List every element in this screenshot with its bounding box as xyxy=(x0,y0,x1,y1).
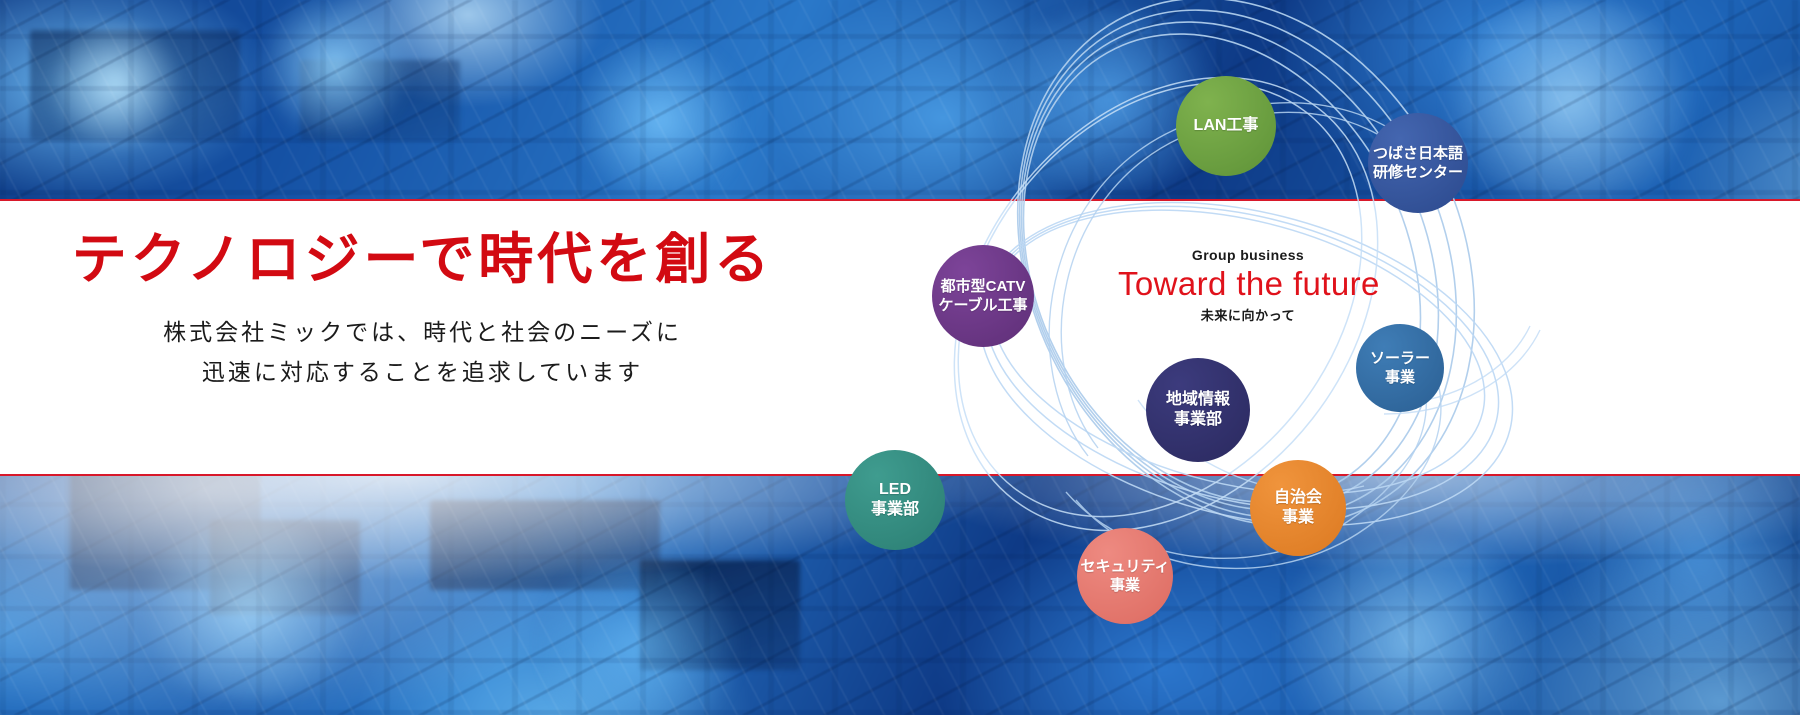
bubble-label-line-2: 事業 xyxy=(1282,508,1314,528)
bubble-lan-construction[interactable]: LAN工事 xyxy=(1176,76,1276,176)
bubble-label-line-1: セキュリティ xyxy=(1080,557,1169,576)
bubble-led-division[interactable]: LED事業部 xyxy=(845,450,945,550)
bubble-label-line-2: ケーブル工事 xyxy=(938,296,1027,315)
bubble-label-line-1: ソーラー xyxy=(1370,349,1430,368)
bubble-neighborhood-association-business[interactable]: 自治会事業 xyxy=(1250,460,1346,556)
bubble-label-line-2: 研修センター xyxy=(1373,163,1463,182)
page-title: テクノロジーで時代を創る xyxy=(0,228,845,293)
bubble-label-line-1: LAN工事 xyxy=(1194,116,1259,136)
bubble-solar-business[interactable]: ソーラー事業 xyxy=(1356,324,1444,412)
bubble-label-line-2: 事業部 xyxy=(871,500,919,520)
bubble-label-line-2: 事業 xyxy=(1110,576,1140,595)
band-feather-top xyxy=(0,120,1800,200)
divider-rule-top xyxy=(0,199,1800,201)
center-caption: Group business Toward the future 未来に向かって xyxy=(1118,248,1378,324)
bubble-label-line-1: 地域情報 xyxy=(1166,390,1230,410)
hero-subtitle-line-2: 迅速に対応することを追求しています xyxy=(0,353,845,393)
center-eyebrow: Group business xyxy=(1118,248,1378,263)
bubble-label-line-2: 事業 xyxy=(1385,368,1415,387)
bubble-label-line-1: つばさ日本語 xyxy=(1373,144,1463,163)
bubble-label-line-1: LED xyxy=(879,480,911,500)
bubble-label-line-2: 事業部 xyxy=(1174,410,1222,430)
hero-subtitle-line-1: 株式会社ミックでは、時代と社会のニーズに xyxy=(0,313,845,353)
bubble-label-line-1: 自治会 xyxy=(1274,488,1322,508)
bubble-regional-information-division[interactable]: 地域情報事業部 xyxy=(1146,358,1250,462)
hero-subtitle: 株式会社ミックでは、時代と社会のニーズに 迅速に対応することを追求しています xyxy=(0,313,845,394)
bubble-security-business[interactable]: セキュリティ事業 xyxy=(1077,528,1173,624)
bubble-label-line-1: 都市型CATV xyxy=(941,277,1026,296)
center-title: Toward the future xyxy=(1118,265,1378,303)
hero-stage: テクノロジーで時代を創る 株式会社ミックでは、時代と社会のニーズに 迅速に対応す… xyxy=(0,0,1800,715)
bubble-tsubasa-japanese-training-center[interactable]: つばさ日本語研修センター xyxy=(1368,113,1468,213)
hero-copy: テクノロジーで時代を創る 株式会社ミックでは、時代と社会のニーズに 迅速に対応す… xyxy=(0,228,845,393)
center-japanese-subtitle: 未来に向かって xyxy=(1118,305,1378,324)
bubble-urban-catv-cable-construction[interactable]: 都市型CATVケーブル工事 xyxy=(932,245,1034,347)
